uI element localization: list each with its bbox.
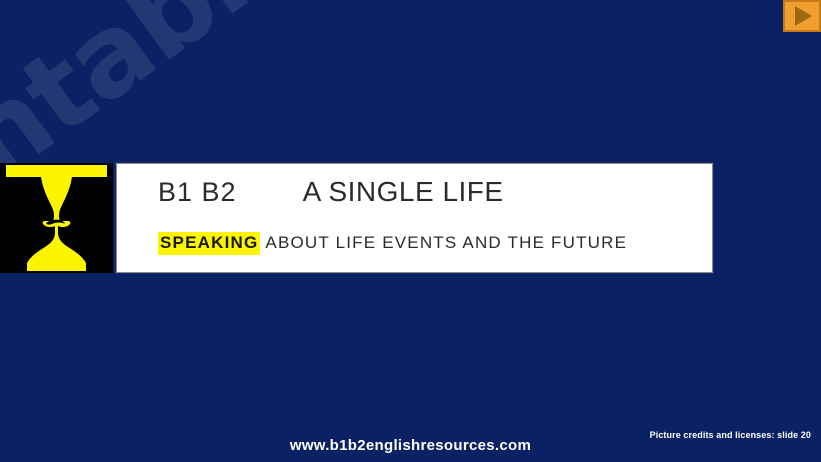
play-button[interactable]: [783, 0, 821, 32]
subtitle-text: ABOUT LIFE EVENTS AND THE FUTURE: [265, 233, 627, 253]
play-triangle-icon: [795, 6, 812, 26]
skill-badge: SPEAKING: [158, 232, 260, 255]
page-title: A SINGLE LIFE: [303, 176, 504, 208]
banner-subtitle-row: SPEAKING ABOUT LIFE EVENTS AND THE FUTUR…: [158, 232, 627, 255]
title-banner: B1 B2 A SINGLE LIFE SPEAKING ABOUT LIFE …: [116, 163, 713, 273]
presentation-slide: printables.com B1 B2 A SINGLE LIFE SPEAK…: [0, 0, 821, 462]
banner-heading-row: B1 B2 A SINGLE LIFE: [158, 176, 504, 208]
level-label: B1 B2: [158, 177, 237, 208]
picture-credits-note: Picture credits and licenses: slide 20: [650, 430, 811, 440]
logo-rubin-vase-icon: [0, 163, 113, 273]
